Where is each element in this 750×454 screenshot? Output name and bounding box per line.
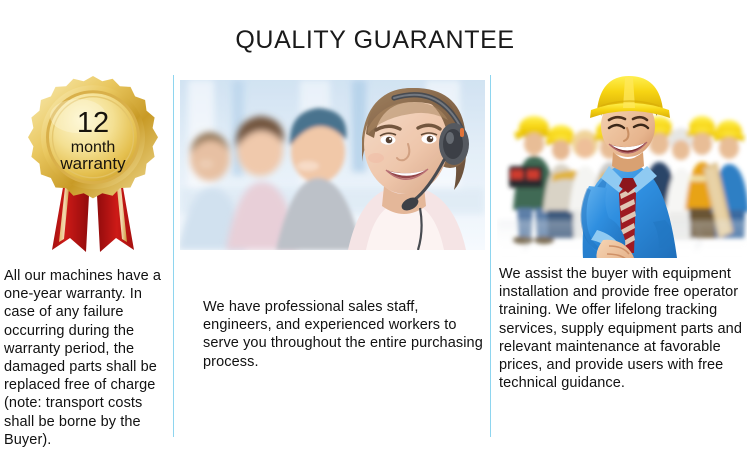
column-divider-right <box>490 75 491 437</box>
middle-column-description: We have professional sales staff, engine… <box>203 298 488 371</box>
quality-guarantee-banner: QUALITY GUARANTEE <box>0 0 750 454</box>
column-divider-left <box>173 75 174 437</box>
call-center-photo <box>180 80 485 250</box>
left-column-description: All our machines have a one-year warrant… <box>4 267 170 449</box>
badge-line2-text: warranty <box>59 154 126 173</box>
right-column-description: We assist the buyer with equipment insta… <box>499 265 749 392</box>
warranty-badge: 12 month warranty <box>18 72 168 264</box>
page-title: QUALITY GUARANTEE <box>0 26 750 55</box>
engineer-team-photo <box>497 70 747 258</box>
badge-number-text: 12 <box>77 107 109 139</box>
